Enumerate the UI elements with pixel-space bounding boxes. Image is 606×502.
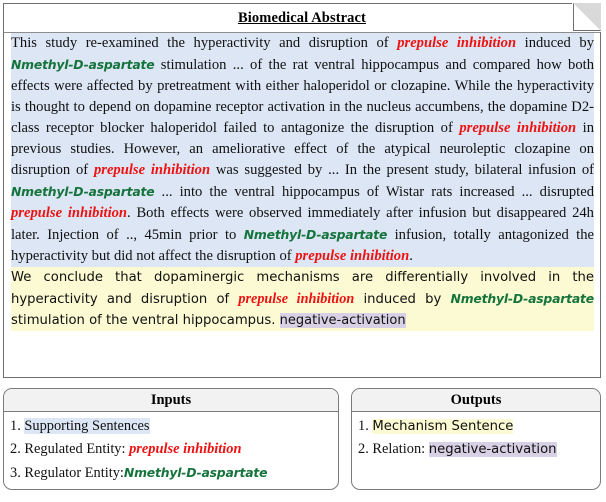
abstract-body: This study re-examined the hyperactivity… xyxy=(4,32,600,331)
inputs-box-body: 1. Supporting Sentences2. Regulated Enti… xyxy=(4,412,338,489)
io-boxes-row: Inputs 1. Supporting Sentences2. Regulat… xyxy=(3,388,601,490)
regulated-entity-mention: prepulse inhibition xyxy=(94,162,210,178)
list-item: 2. Regulated Entity: prepulse inhibition xyxy=(10,439,332,460)
list-item-number: 2. xyxy=(10,441,24,457)
outputs-box-body: 1. Mechanism Sentence2. Relation: negati… xyxy=(352,412,600,465)
inputs-box-header: Inputs xyxy=(4,389,338,412)
regulated-entity-mention: prepulse inhibition xyxy=(129,441,241,457)
regulator-entity-mention: Nmethyl-D-aspartate xyxy=(124,465,267,480)
mechanism-sentence-paragraph: We conclude that dopaminergic mechanisms… xyxy=(11,267,594,331)
list-item-number: 3. xyxy=(10,465,24,481)
relation-label: negative-activation xyxy=(280,313,406,328)
list-item: 2. Relation: negative-activation xyxy=(358,439,594,460)
page-title: Biomedical Abstract xyxy=(4,4,600,32)
regulated-entity-mention: prepulse inhibition xyxy=(295,248,409,264)
outputs-box: Outputs 1. Mechanism Sentence2. Relation… xyxy=(351,388,601,490)
regulator-entity-mention: Nmethyl-D-aspartate xyxy=(451,291,594,306)
figure-root: Biomedical Abstract This study re-examin… xyxy=(0,0,606,502)
list-item: 1. Supporting Sentences xyxy=(10,416,332,437)
supporting-sentences-label: Supporting Sentences xyxy=(24,418,149,434)
relation-value: negative-activation xyxy=(429,442,557,457)
regulator-entity-mention: Nmethyl-D-aspartate xyxy=(11,184,154,199)
outputs-box-header: Outputs xyxy=(352,389,600,412)
regulator-entity-mention: Nmethyl-D-aspartate xyxy=(11,57,154,72)
regulated-entity-mention: prepulse inhibition xyxy=(238,291,354,307)
list-item-number: 2. xyxy=(358,441,372,457)
regulated-entity-mention: prepulse inhibition xyxy=(397,35,516,51)
regulated-entity-mention: prepulse inhibition xyxy=(459,120,576,136)
list-item: 1. Mechanism Sentence xyxy=(358,416,594,437)
inputs-box: Inputs 1. Supporting Sentences2. Regulat… xyxy=(3,388,339,490)
regulator-entity-mention: Nmethyl-D-aspartate xyxy=(244,227,387,242)
list-item-number: 1. xyxy=(358,418,372,434)
biomedical-abstract-card: Biomedical Abstract This study re-examin… xyxy=(3,3,601,378)
list-item-number: 1. xyxy=(10,418,24,434)
regulated-entity-mention: prepulse inhibition xyxy=(11,205,127,221)
mechanism-sentence-label: Mechanism Sentence xyxy=(372,419,513,434)
supporting-sentences-paragraph: This study re-examined the hyperactivity… xyxy=(11,33,594,267)
list-item: 3. Regulator Entity:Nmethyl-D-aspartate xyxy=(10,462,332,484)
